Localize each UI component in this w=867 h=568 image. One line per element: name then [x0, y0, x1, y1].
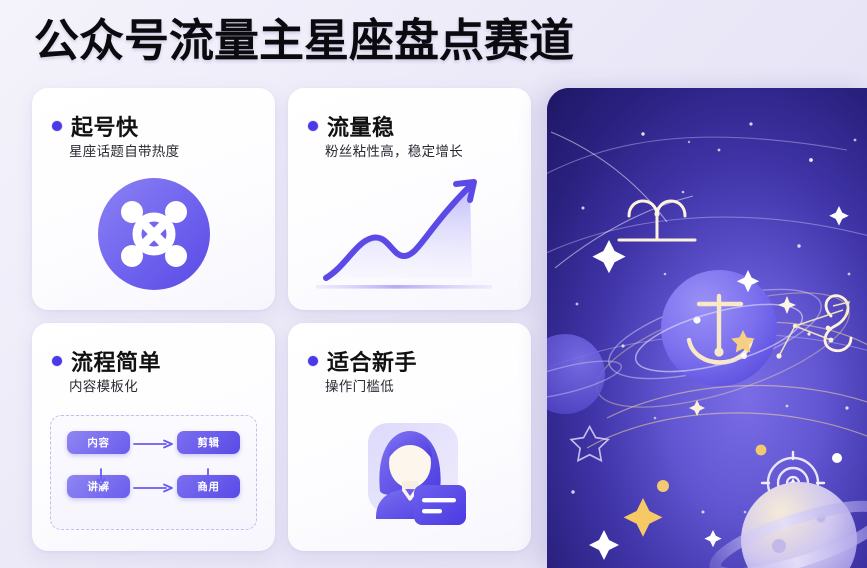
card-subtitle: 操作门槛低 — [325, 375, 394, 395]
network-nodes-icon — [32, 176, 275, 292]
growth-chart-icon — [300, 170, 521, 305]
flow-arrow-right-bottom — [132, 481, 176, 493]
poster-canvas: 公众号流量主星座盘点赛道 起号快 星座话题自带热度 — [0, 0, 867, 568]
card-stable-traffic[interactable]: 流量稳 粉丝粘性高，稳定增长 — [288, 88, 531, 310]
card-title: 流量稳 — [327, 110, 395, 142]
card-title: 流程简单 — [71, 345, 161, 377]
card-header: 适合新手 — [308, 345, 417, 377]
card-subtitle: 粉丝粘性高，稳定增长 — [325, 140, 463, 160]
flow-node-edit: 剪辑 — [177, 431, 240, 454]
card-beginner-friendly[interactable]: 适合新手 操作门槛低 — [288, 323, 531, 551]
zodiac-space-illustration — [547, 88, 867, 568]
person-chat-icon — [288, 407, 531, 535]
card-fast-start[interactable]: 起号快 星座话题自带热度 — [32, 88, 275, 310]
card-title: 起号快 — [71, 110, 139, 142]
card-subtitle: 内容模板化 — [69, 375, 138, 395]
flow-row-bottom: 讲解 商用 — [67, 475, 240, 498]
card-header: 流程简单 — [52, 345, 161, 377]
feature-card-grid: 起号快 星座话题自带热度 — [32, 88, 532, 550]
flow-node-explain: 讲解 — [67, 475, 130, 498]
flow-node-commercial: 商用 — [177, 475, 240, 498]
card-header: 流量稳 — [308, 110, 395, 142]
bullet-dot-icon — [52, 356, 62, 366]
flow-node-content: 内容 — [67, 431, 130, 454]
bullet-dot-icon — [308, 356, 318, 366]
card-header: 起号快 — [52, 110, 139, 142]
card-subtitle: 星座话题自带热度 — [69, 140, 179, 160]
card-title: 适合新手 — [327, 345, 417, 377]
flow-diagram-icon: 内容 剪辑 讲解 — [50, 415, 257, 530]
bullet-dot-icon — [308, 121, 318, 131]
card-simple-process[interactable]: 流程简单 内容模板化 内容 剪辑 — [32, 323, 275, 551]
flow-row-top: 内容 剪辑 — [67, 431, 240, 454]
page-title: 公众号流量主星座盘点赛道 — [34, 14, 574, 68]
flow-arrow-right-top — [132, 437, 176, 449]
bullet-dot-icon — [52, 121, 62, 131]
